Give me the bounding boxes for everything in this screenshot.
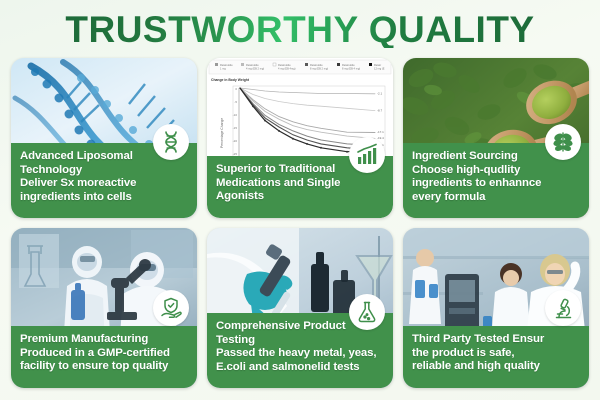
svg-text:Retatrutide: Retatrutide — [342, 63, 355, 67]
svg-text:8 mg (EB 2 mg): 8 mg (EB 2 mg) — [310, 67, 328, 71]
svg-text:Retatrutide: Retatrutide — [310, 63, 323, 67]
card-line: ingredients to enhannce — [412, 177, 580, 191]
card-advanced-liposomal-technology[interactable]: Advanced Liposomal Technology Deliver Sx… — [11, 58, 197, 218]
card-text-panel: Premium Manufacturing Produced in a GMP-… — [11, 326, 197, 388]
dna-helix-icon — [153, 124, 189, 160]
svg-text:4 mg (EB 2 mg): 4 mg (EB 2 mg) — [246, 67, 264, 71]
card-line: the product is safe, — [412, 347, 580, 361]
svg-text:-19.4: -19.4 — [377, 136, 384, 140]
svg-text:-20: -20 — [233, 139, 238, 143]
card-line: ingredients into cells — [20, 191, 188, 205]
card-line: Produced in a GMP-certified — [20, 347, 188, 361]
svg-text:Retatrutide: Retatrutide — [246, 63, 259, 67]
card-line: Passed the heavy metal, yeas, — [216, 347, 384, 361]
bar-chart-growth-icon — [349, 137, 385, 173]
card-premium-manufacturing[interactable]: Premium Manufacturing Produced in a GMP-… — [11, 228, 197, 388]
card-line: Deliver Sx moreactive — [20, 177, 188, 191]
svg-text:8 mg (EB 4 mg): 8 mg (EB 4 mg) — [342, 67, 360, 71]
feature-card-grid: Advanced Liposomal Technology Deliver Sx… — [11, 58, 589, 393]
card-line: Testing — [216, 334, 384, 348]
card-line: every formula — [412, 191, 580, 205]
hand-check-shield-icon — [153, 290, 189, 326]
svg-text:Retatrutide: Retatrutide — [278, 63, 291, 67]
svg-text:Percentage Change: Percentage Change — [220, 118, 224, 148]
svg-text:Retatr: Retatr — [374, 63, 381, 67]
page-title: TRUSTWORTHY QUALITY — [65, 11, 534, 48]
svg-text:Retatrutide: Retatrutide — [220, 63, 233, 67]
card-line: reliable and high quality — [412, 360, 580, 374]
card-text-panel: Third Party Tested Ensur the product is … — [403, 326, 589, 388]
svg-text:12 mg (E: 12 mg (E — [374, 67, 385, 71]
card-line: Agonists — [216, 190, 384, 204]
svg-text:-15: -15 — [233, 126, 238, 130]
microscope-icon — [545, 290, 581, 326]
svg-text:1 mg: 1 mg — [220, 67, 226, 71]
card-third-party-tested[interactable]: Third Party Tested Ensur the product is … — [403, 228, 589, 388]
card-ingredient-sourcing[interactable]: Ingredient Sourcing Choose high-qudlity … — [403, 58, 589, 218]
svg-text:Change in Body Weight: Change in Body Weight — [211, 78, 250, 82]
svg-text:-8.7: -8.7 — [377, 109, 383, 113]
svg-text:-2.1: -2.1 — [377, 92, 383, 96]
header: TRUSTWORTHY QUALITY — [0, 0, 600, 58]
card-line: E.coli and salmonelid tests — [216, 361, 384, 375]
card-comprehensive-product-testing[interactable]: Comprehensive Product Testing Passed the… — [207, 228, 393, 388]
svg-text:-17.1: -17.1 — [377, 130, 384, 134]
svg-text:4 mg (EB 4mg): 4 mg (EB 4mg) — [278, 67, 296, 71]
svg-text:-10: -10 — [233, 113, 238, 117]
flask-icon — [349, 294, 385, 330]
card-line: Medications and Single — [216, 177, 384, 191]
svg-text:-5: -5 — [234, 100, 237, 104]
card-superior-to-traditional-medications[interactable]: Retatrutide1 mg Retatrutide4 mg (EB 2 mg… — [207, 58, 393, 218]
card-line: Choose high-qudlity — [412, 164, 580, 178]
card-line: facility to ensure top quality — [20, 360, 188, 374]
card-line: Technology — [20, 164, 188, 178]
card-line: Third Party Tested Ensur — [412, 333, 580, 347]
card-line: Premium Manufacturing — [20, 333, 188, 347]
leaf-sprig-icon — [545, 124, 581, 160]
